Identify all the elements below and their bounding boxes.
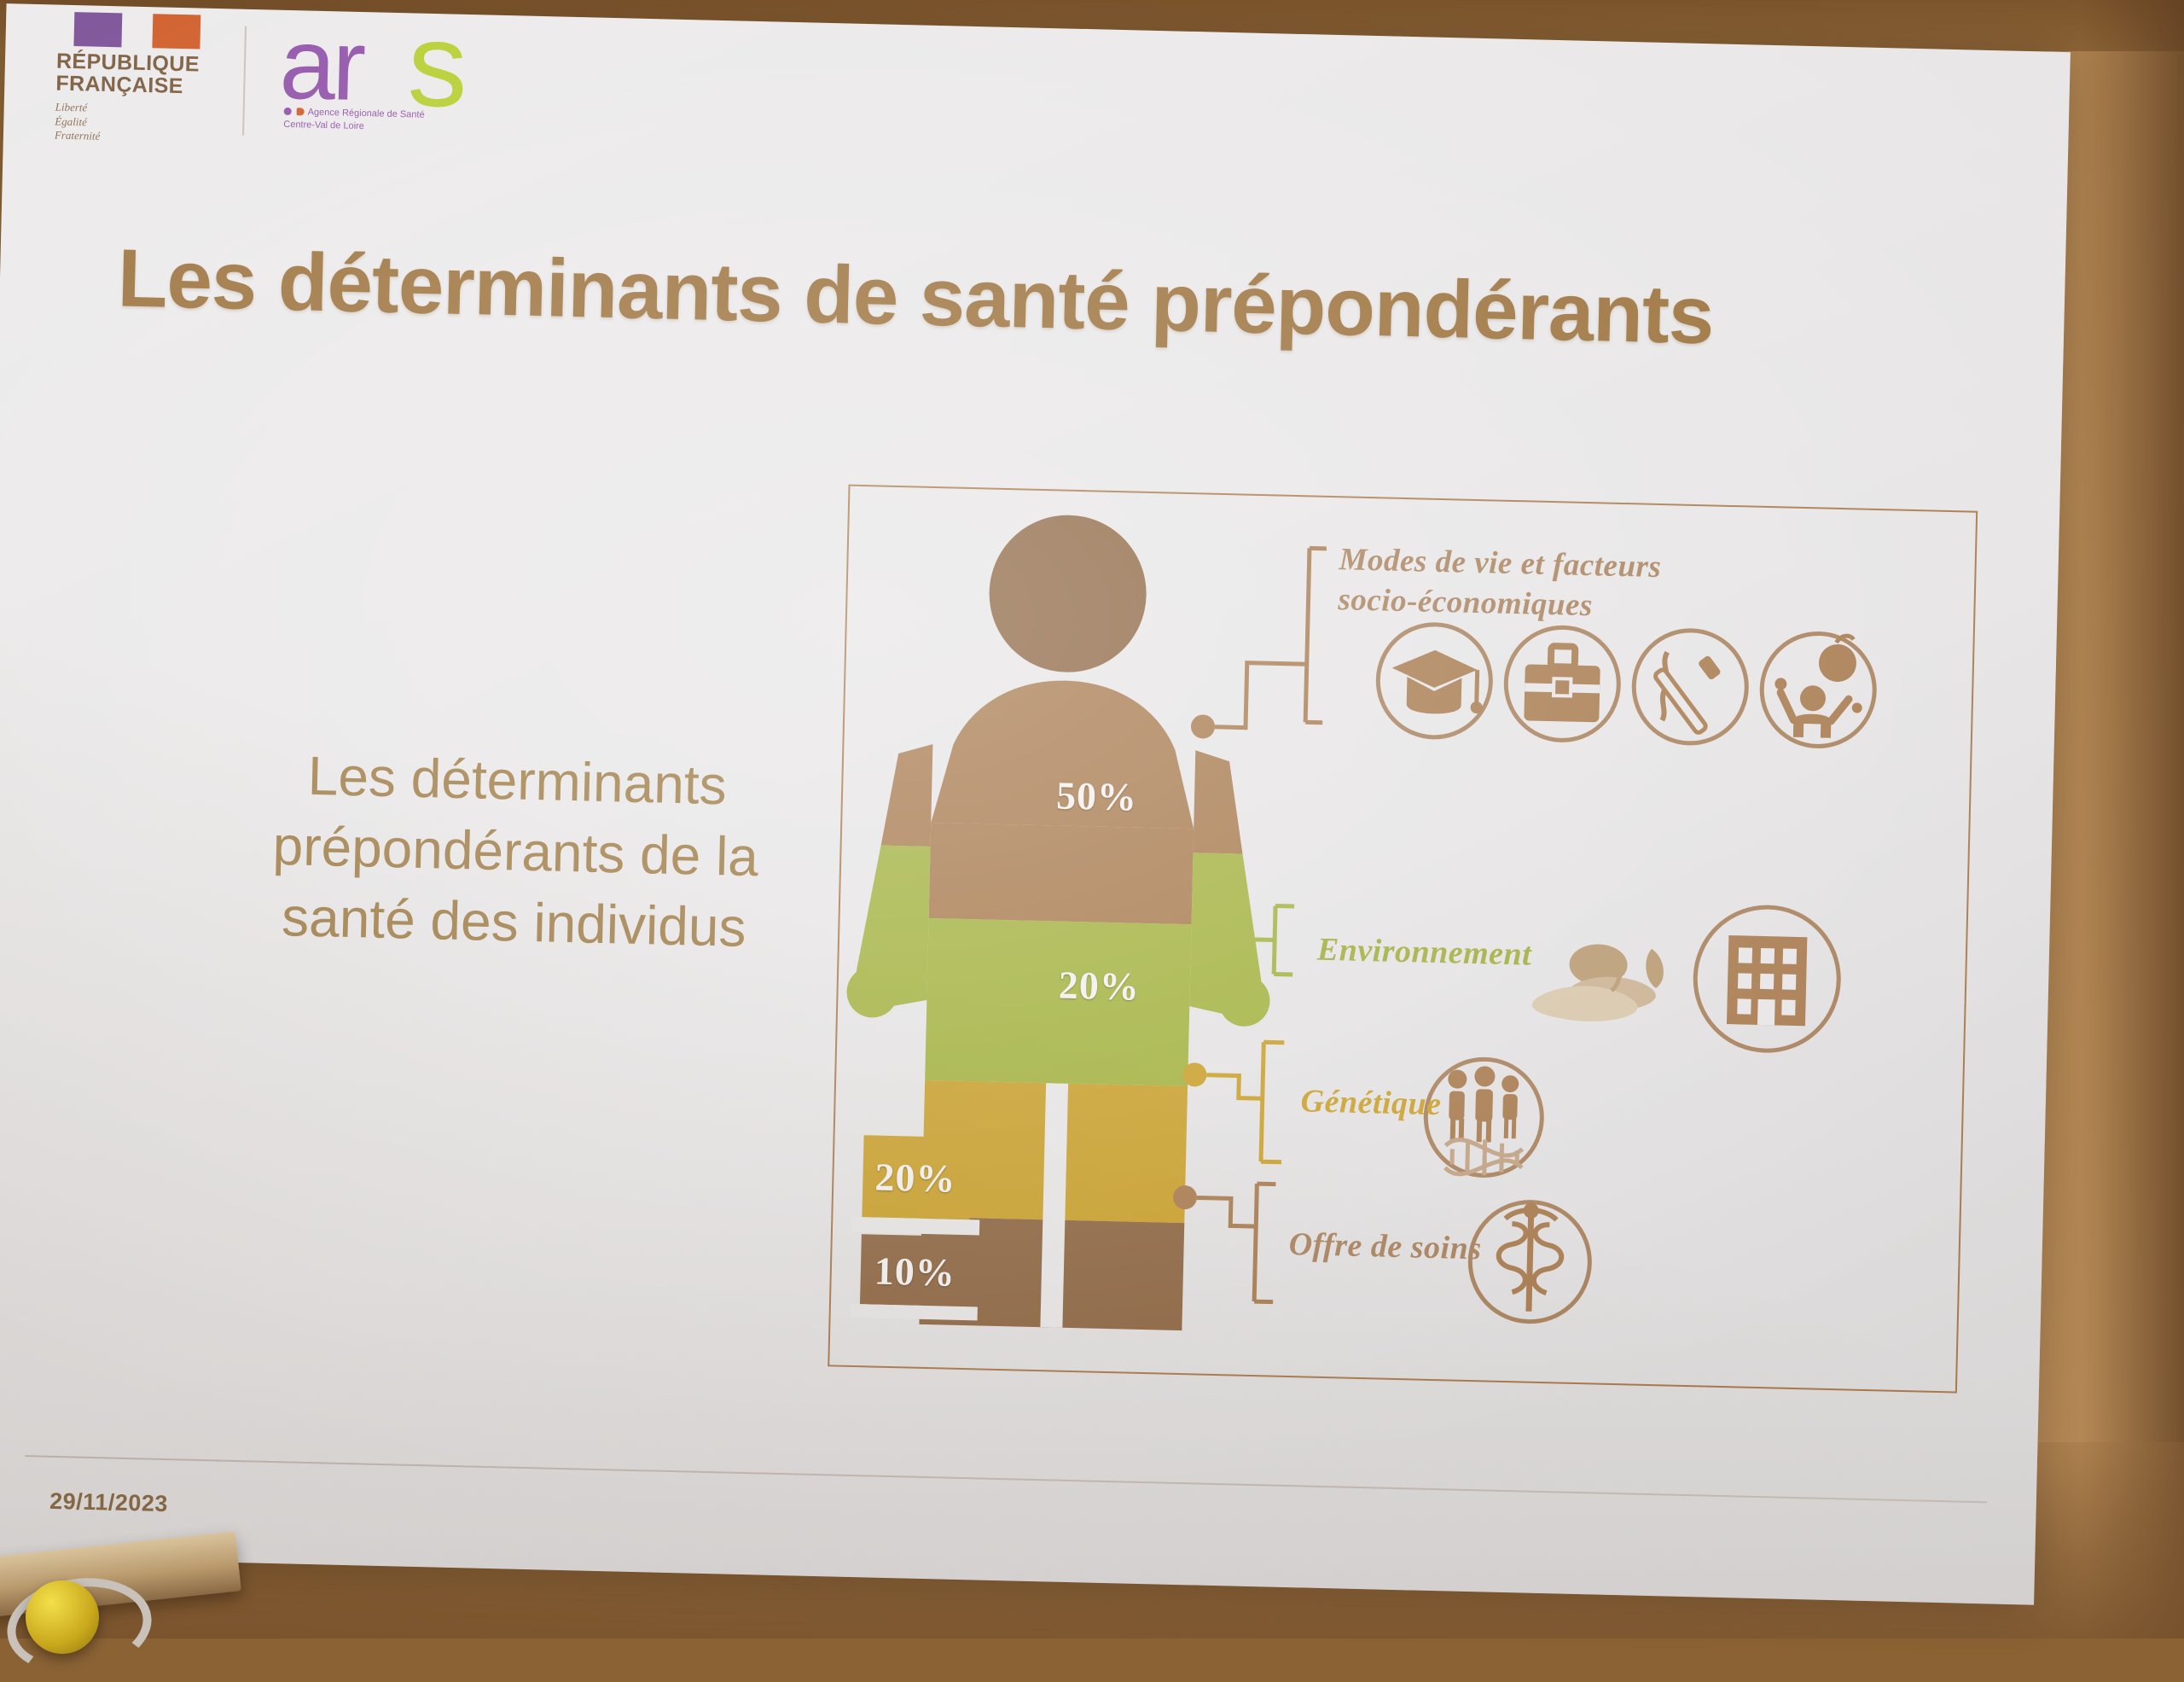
graduation-cap-icon	[1377, 623, 1492, 738]
republique-francaise-name: RÉPUBLIQUE FRANÇAISE	[55, 51, 210, 98]
connector-genetique	[1181, 1040, 1284, 1162]
logo-divider	[242, 26, 247, 136]
yellow-knob	[26, 1580, 99, 1654]
ars-mark-ar: ar	[279, 14, 364, 116]
briefcase-icon	[1505, 626, 1620, 742]
cigarette-icon	[1633, 629, 1748, 744]
ars-mark-s: s	[406, 4, 465, 125]
category-label-genetique: Génétique	[1300, 1082, 1442, 1123]
ars-subtitle-line2: Centre-Val de Loire	[283, 119, 364, 133]
republique-francaise-logo: RÉPUBLIQUE FRANÇAISE LibertéÉgalitéFrate…	[55, 12, 212, 147]
republique-line2: FRANÇAISE	[55, 73, 210, 98]
building-icon	[1693, 905, 1840, 1052]
ars-bullet-icon	[284, 108, 305, 116]
figure-head	[987, 514, 1147, 674]
connector-modes	[1191, 545, 1327, 742]
icon-row-modes	[1377, 623, 1876, 748]
presentation-slide: RÉPUBLIQUE FRANÇAISE LibertéÉgalitéFrate…	[0, 3, 2071, 1605]
family-dna-icon	[1425, 1058, 1543, 1177]
value-label-soins: 10%	[874, 1248, 955, 1295]
logo-bar: RÉPUBLIQUE FRANÇAISE LibertéÉgalitéFrate…	[55, 12, 511, 154]
page-title: Les déterminants de santé prépondérants	[117, 235, 1978, 365]
ars-subtitle: Agence Régionale de Santé Centre-Val de …	[307, 107, 425, 135]
determinants-infographic: 50% 20% 20% 10% Modes de vie et facteurs…	[828, 485, 1978, 1394]
value-label-modes: 50%	[1055, 772, 1137, 819]
caduceus-icon	[1469, 1201, 1591, 1323]
value-label-genetique: 20%	[874, 1155, 956, 1202]
category-label-soins: Offre de soins	[1288, 1225, 1482, 1267]
ars-subtitle-line1: Agence Régionale de Santé	[308, 108, 425, 120]
category-label-modes: Modes de vie et facteurs socio-économiqu…	[1338, 540, 1732, 629]
ars-logo: ar s Agence Régionale de Santé Centre-Va…	[278, 17, 511, 150]
connector-soins	[1170, 1182, 1275, 1302]
icon-row-environnement	[1531, 902, 1841, 1052]
category-label-environnement: Environnement	[1316, 931, 1531, 974]
projection-screen: RÉPUBLIQUE FRANÇAISE LibertéÉgalitéFrate…	[0, 0, 2115, 1642]
french-flag-icon	[73, 12, 200, 49]
value-label-environnement: 20%	[1058, 963, 1140, 1010]
slide-date: 29/11/2023	[49, 1488, 168, 1517]
landscape-icon	[1531, 943, 1664, 1023]
footer-divider	[25, 1455, 1986, 1503]
nutrition-activity-icon	[1761, 632, 1876, 748]
lead-paragraph: Les déterminants prépondérants de la san…	[197, 738, 834, 966]
republique-motto: LibertéÉgalitéFraternité	[55, 101, 209, 147]
